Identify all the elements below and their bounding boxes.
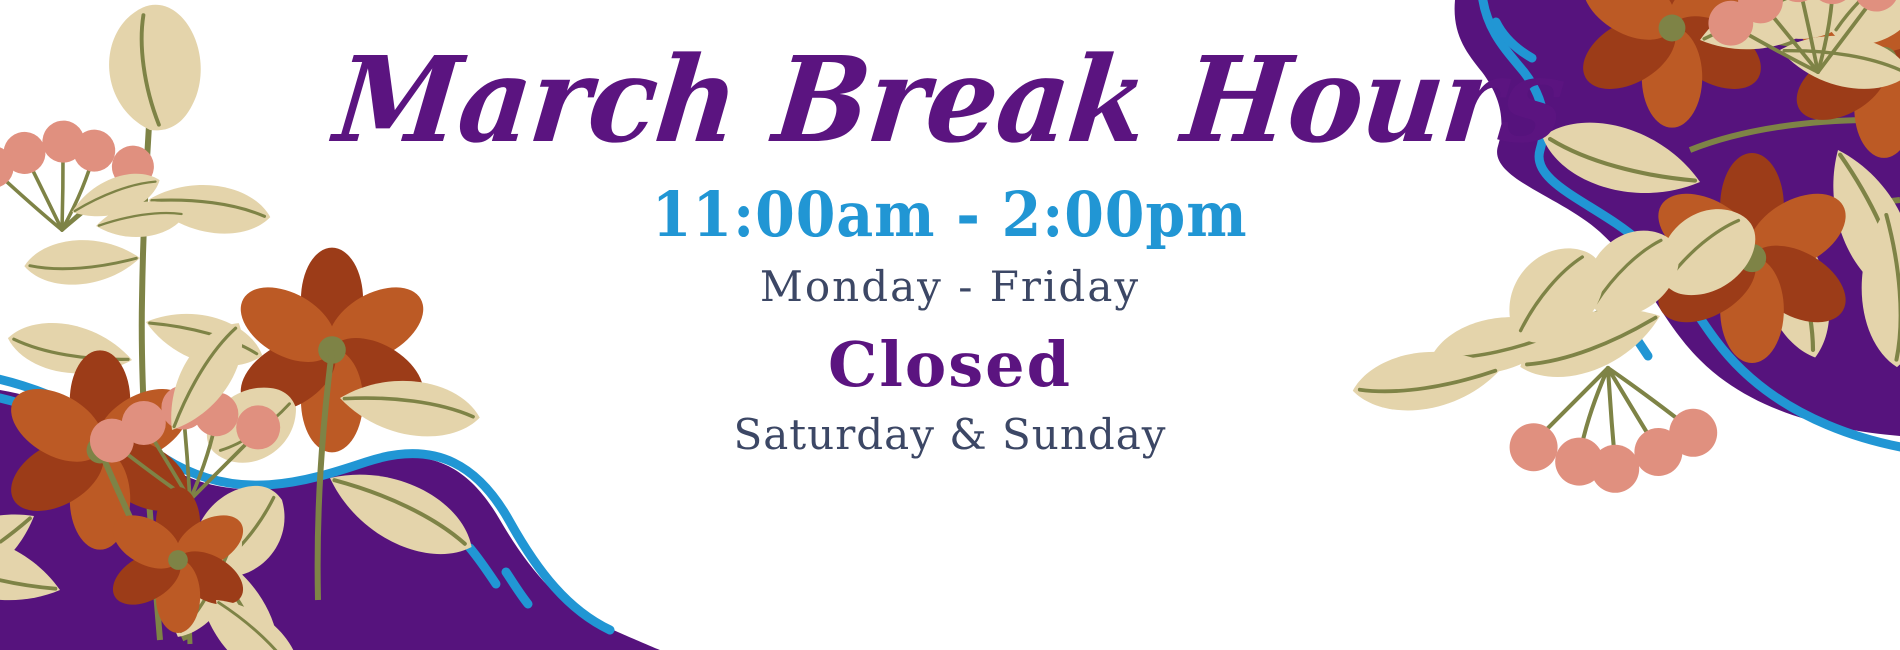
closed-label: Closed xyxy=(828,334,1072,396)
closed-days-text: Saturday & Sunday xyxy=(733,414,1166,456)
open-days-text: Monday - Friday xyxy=(760,266,1140,308)
open-hours-text: 11:00am - 2:00pm xyxy=(652,184,1248,246)
page-title: March Break Hours xyxy=(330,38,1570,162)
march-break-hours-banner: March Break Hours 11:00am - 2:00pm Monda… xyxy=(0,0,1900,650)
banner-content: March Break Hours 11:00am - 2:00pm Monda… xyxy=(0,0,1900,650)
